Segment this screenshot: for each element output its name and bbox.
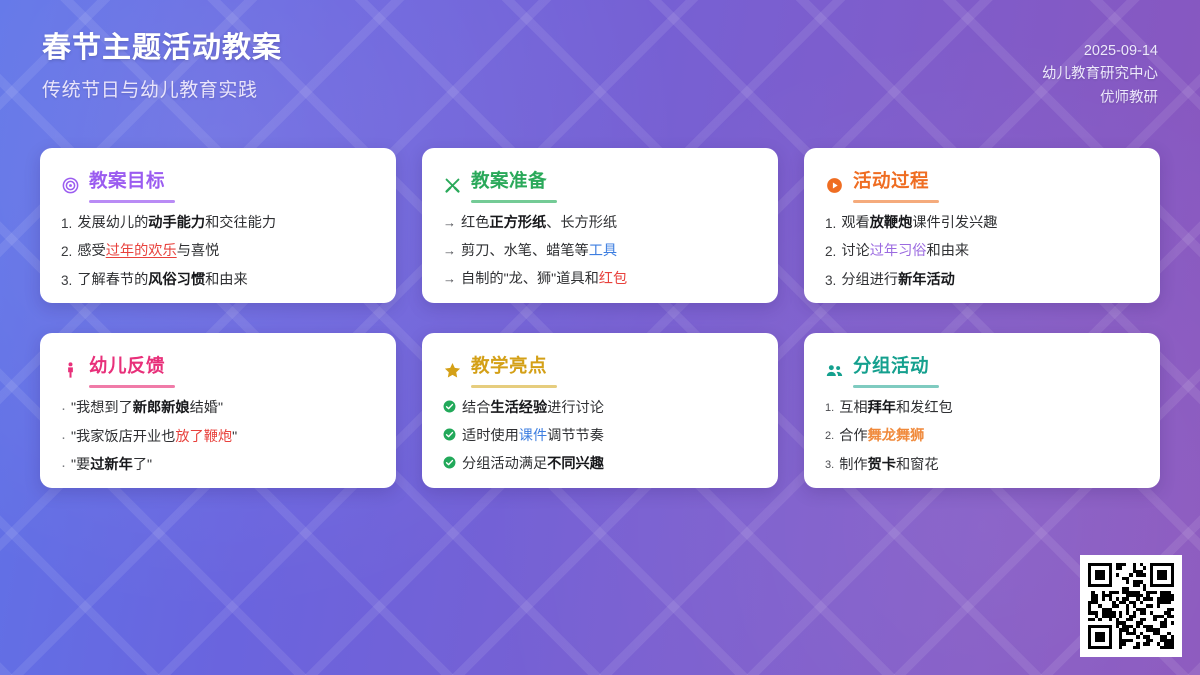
list-item: 1.发展幼儿的动手能力和交往能力 xyxy=(61,214,376,233)
card-title: 教案目标 xyxy=(89,167,165,197)
list-item-text: 互相拜年和发红包 xyxy=(839,399,1140,418)
card-header: 教学亮点 xyxy=(443,352,758,388)
list-item-text: "我家饭店开业也放了鞭炮" xyxy=(71,428,376,447)
card-item-list: 1.发展幼儿的动手能力和交往能力2.感受过年的欢乐与喜悦3.了解春节的风俗习惯和… xyxy=(61,214,376,290)
list-marker: → xyxy=(443,270,456,288)
list-item-text: 自制的"龙、狮"道具和红包 xyxy=(461,270,758,289)
list-marker: 2. xyxy=(61,242,72,261)
check-circle-icon xyxy=(443,427,456,444)
list-item: 1.互相拜年和发红包 xyxy=(825,399,1140,418)
title-underline xyxy=(89,200,175,203)
card-header: 活动过程 xyxy=(825,167,1140,203)
card-item-list: 1.观看放鞭炮课件引发兴趣2.讨论过年习俗和由来3.分组进行新年活动 xyxy=(825,214,1140,290)
list-item: 3.了解春节的风俗习惯和由来 xyxy=(61,271,376,290)
list-item: 1.观看放鞭炮课件引发兴趣 xyxy=(825,214,1140,233)
header-date: 2025-09-14 xyxy=(1042,40,1158,63)
list-marker: → xyxy=(443,214,456,232)
list-marker: 3. xyxy=(825,271,836,290)
card-child-feedback: 幼儿反馈·"我想到了新郎新娘结婚"·"我家饭店开业也放了鞭炮"·"要过新年了" xyxy=(40,333,396,488)
list-marker: 3. xyxy=(61,271,72,290)
list-item: 2.讨论过年习俗和由来 xyxy=(825,242,1140,261)
card-title: 教案准备 xyxy=(471,167,547,197)
card-header: 教案准备 xyxy=(443,167,758,203)
title-underline xyxy=(471,200,557,203)
target-icon xyxy=(61,176,80,195)
list-item-text: 发展幼儿的动手能力和交往能力 xyxy=(77,214,376,233)
list-item: ·"我家饭店开业也放了鞭炮" xyxy=(61,428,376,448)
card-teaching-goals: 教案目标1.发展幼儿的动手能力和交往能力2.感受过年的欢乐与喜悦3.了解春节的风… xyxy=(40,148,396,303)
check-circle-icon xyxy=(443,399,456,416)
page-title: 春节主题活动教案 xyxy=(42,30,1160,66)
card-grid: 教案目标1.发展幼儿的动手能力和交往能力2.感受过年的欢乐与喜悦3.了解春节的风… xyxy=(40,148,1160,488)
list-marker: → xyxy=(443,242,456,260)
list-item: 2.感受过年的欢乐与喜悦 xyxy=(61,242,376,261)
card-title: 教学亮点 xyxy=(471,352,547,382)
list-item-text: 感受过年的欢乐与喜悦 xyxy=(77,242,376,261)
list-item: 结合生活经验进行讨论 xyxy=(443,399,758,418)
list-item: ·"要过新年了" xyxy=(61,456,376,476)
list-item: →红色正方形纸、长方形纸 xyxy=(443,214,758,233)
check-circle-icon xyxy=(443,455,456,472)
page-subtitle: 传统节日与幼儿教育实践 xyxy=(42,75,1160,102)
list-item-text: 剪刀、水笔、蜡笔等工具 xyxy=(461,242,758,261)
list-marker: · xyxy=(61,399,66,419)
list-item: →自制的"龙、狮"道具和红包 xyxy=(443,270,758,289)
users-icon xyxy=(825,361,844,380)
list-item-text: 观看放鞭炮课件引发兴趣 xyxy=(841,214,1140,233)
card-item-list: 结合生活经验进行讨论适时使用课件调节节奏分组活动满足不同兴趣 xyxy=(443,399,758,475)
star-icon xyxy=(443,361,462,380)
list-item-text: 制作贺卡和窗花 xyxy=(839,456,1140,475)
title-underline xyxy=(471,385,557,388)
slide-header: 春节主题活动教案 传统节日与幼儿教育实践 2025-09-14 幼儿教育研究中心… xyxy=(0,0,1200,135)
list-item-text: 分组进行新年活动 xyxy=(841,271,1140,290)
child-icon xyxy=(61,361,80,380)
list-item: ·"我想到了新郎新娘结婚" xyxy=(61,399,376,419)
list-item: 3.制作贺卡和窗花 xyxy=(825,456,1140,475)
list-item-text: 合作舞龙舞狮 xyxy=(839,427,1140,446)
card-teaching-prep: 教案准备→红色正方形纸、长方形纸→剪刀、水笔、蜡笔等工具→自制的"龙、狮"道具和… xyxy=(422,148,778,303)
list-marker: 2. xyxy=(825,427,834,446)
header-meta: 2025-09-14 幼儿教育研究中心 优师教研 xyxy=(1042,40,1158,110)
title-underline xyxy=(853,385,939,388)
list-marker: 1. xyxy=(825,214,836,233)
slide-root: 春节主题活动教案 传统节日与幼儿教育实践 2025-09-14 幼儿教育研究中心… xyxy=(0,0,1200,675)
card-header: 教案目标 xyxy=(61,167,376,203)
qr-code-matrix xyxy=(1088,563,1174,649)
card-item-list: →红色正方形纸、长方形纸→剪刀、水笔、蜡笔等工具→自制的"龙、狮"道具和红包 xyxy=(443,214,758,290)
card-group-activity: 分组活动1.互相拜年和发红包2.合作舞龙舞狮3.制作贺卡和窗花 xyxy=(804,333,1160,488)
list-item: →剪刀、水笔、蜡笔等工具 xyxy=(443,242,758,261)
list-marker: 2. xyxy=(825,242,836,261)
qr-code[interactable] xyxy=(1080,555,1182,657)
play-circle-icon xyxy=(825,176,844,195)
list-item-text: "要过新年了" xyxy=(71,456,376,475)
list-marker: 1. xyxy=(61,214,72,233)
list-item-text: "我想到了新郎新娘结婚" xyxy=(71,399,376,418)
list-marker: 3. xyxy=(825,456,834,475)
list-item-text: 红色正方形纸、长方形纸 xyxy=(461,214,758,233)
card-title: 幼儿反馈 xyxy=(89,352,165,382)
card-header: 幼儿反馈 xyxy=(61,352,376,388)
list-item: 2.合作舞龙舞狮 xyxy=(825,427,1140,446)
list-item-text: 适时使用课件调节节奏 xyxy=(462,427,758,446)
list-marker: · xyxy=(61,428,66,448)
title-underline xyxy=(853,200,939,203)
list-item: 适时使用课件调节节奏 xyxy=(443,427,758,446)
card-activity-process: 活动过程1.观看放鞭炮课件引发兴趣2.讨论过年习俗和由来3.分组进行新年活动 xyxy=(804,148,1160,303)
list-item-text: 分组活动满足不同兴趣 xyxy=(462,455,758,474)
card-item-list: 1.互相拜年和发红包2.合作舞龙舞狮3.制作贺卡和窗花 xyxy=(825,399,1140,475)
card-header: 分组活动 xyxy=(825,352,1140,388)
tools-icon xyxy=(443,176,462,195)
card-item-list: ·"我想到了新郎新娘结婚"·"我家饭店开业也放了鞭炮"·"要过新年了" xyxy=(61,399,376,476)
card-teaching-highlights: 教学亮点结合生活经验进行讨论适时使用课件调节节奏分组活动满足不同兴趣 xyxy=(422,333,778,488)
list-item-text: 了解春节的风俗习惯和由来 xyxy=(77,271,376,290)
list-item-text: 结合生活经验进行讨论 xyxy=(462,399,758,418)
list-marker: · xyxy=(61,456,66,476)
header-brand: 优师教研 xyxy=(1042,87,1158,110)
title-underline xyxy=(89,385,175,388)
card-title: 分组活动 xyxy=(853,352,929,382)
list-marker: 1. xyxy=(825,399,834,418)
card-title: 活动过程 xyxy=(853,167,929,197)
list-item: 分组活动满足不同兴趣 xyxy=(443,455,758,474)
list-item-text: 讨论过年习俗和由来 xyxy=(841,242,1140,261)
header-org: 幼儿教育研究中心 xyxy=(1042,63,1158,86)
list-item: 3.分组进行新年活动 xyxy=(825,271,1140,290)
